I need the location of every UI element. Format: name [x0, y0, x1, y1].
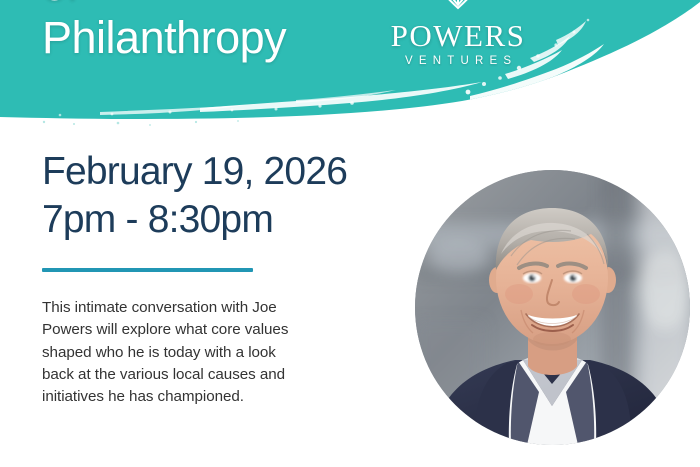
speaker-portrait: [415, 170, 690, 445]
event-poster: of Philanthropy: [0, 0, 700, 467]
event-date-time: February 19, 2026 7pm - 8:30pm: [42, 148, 442, 244]
teal-banner: of Philanthropy: [0, 0, 700, 135]
section-divider: [42, 268, 253, 272]
event-description: This intimate conversation with Joe Powe…: [42, 297, 294, 408]
speaker-portrait-image: [415, 170, 690, 445]
banner-brush-shape: [0, 0, 700, 135]
